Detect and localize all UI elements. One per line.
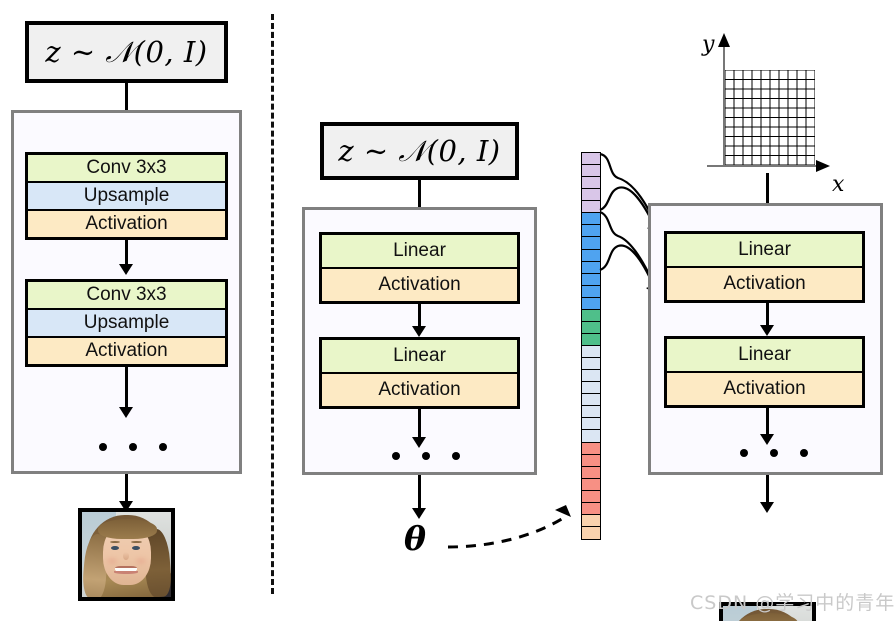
param-cell-31 [582, 527, 600, 539]
param-cell-24 [582, 443, 600, 455]
param-cell-25 [582, 455, 600, 467]
param-cell-18 [582, 370, 600, 382]
middle-ellipsis [392, 452, 460, 460]
right-arrow-b2-dots-head [760, 434, 774, 445]
axis-y-arrowhead [716, 33, 732, 49]
left-ellipsis [99, 443, 167, 451]
middle-block-2: Linear Activation [319, 337, 520, 409]
panel-divider [271, 14, 274, 594]
left-arrow-b1-b2-head [119, 264, 133, 275]
axis-x-label: x [832, 172, 844, 197]
middle-block-2-row-1: Linear [322, 340, 517, 374]
middle-block-1-row-2: Activation [322, 269, 517, 301]
param-cell-26 [582, 467, 600, 479]
right-block-2-row-2: Activation [667, 373, 862, 405]
axis-x-line [707, 165, 817, 167]
param-cell-20 [582, 394, 600, 406]
param-cell-28 [582, 491, 600, 503]
right-block-2: Linear Activation [664, 336, 865, 408]
middle-arrow-net-to-theta-line [418, 475, 421, 511]
right-block-2-row-1: Linear [667, 339, 862, 373]
middle-arrow-net-to-theta-head [412, 508, 426, 519]
right-block-1: Linear Activation [664, 231, 865, 303]
left-arrow-b2-dots-line [125, 367, 128, 409]
left-block-1-row-2: Upsample [28, 183, 225, 211]
middle-latent-label: z ∼ 𝒩(0, I) [338, 134, 500, 169]
left-block-1-row-3: Activation [28, 211, 225, 237]
theta-to-param-arrow [440, 495, 590, 565]
middle-latent-box: z ∼ 𝒩(0, I) [320, 122, 519, 180]
middle-arrow-b1-b2-line [418, 304, 421, 328]
left-latent-box: z ∼ 𝒩(0, I) [25, 21, 228, 83]
right-arrow-b1-b2-line [766, 303, 769, 327]
right-arrow-b2-dots-line [766, 408, 769, 436]
middle-block-2-row-2: Activation [322, 374, 517, 406]
param-cell-22 [582, 418, 600, 430]
middle-block-1-row-1: Linear [322, 235, 517, 269]
axis-y-label: y [702, 32, 714, 57]
param-cell-19 [582, 382, 600, 394]
left-arrow-b2-dots-head [119, 407, 133, 418]
csdn-watermark: CSDN @学习中的青年 [690, 588, 895, 615]
axis-x-arrowhead [814, 158, 830, 174]
middle-arrow-b2-dots-head [412, 437, 426, 448]
left-block-2-row-2: Upsample [28, 310, 225, 338]
left-arrow-b1-b2-line [125, 240, 128, 266]
left-block-2-row-1: Conv 3x3 [28, 282, 225, 310]
right-arrow-net-to-photo-line [766, 475, 769, 505]
middle-arrow-b1-b2-head [412, 326, 426, 337]
right-ellipsis [740, 449, 808, 457]
right-arrow-b1-b2-head [760, 325, 774, 336]
param-cell-29 [582, 503, 600, 515]
coordinate-grid [725, 70, 815, 165]
param-cell-23 [582, 430, 600, 442]
right-block-1-row-2: Activation [667, 268, 862, 300]
param-cell-21 [582, 406, 600, 418]
right-block-1-row-1: Linear [667, 234, 862, 268]
param-cell-17 [582, 358, 600, 370]
param-cell-27 [582, 479, 600, 491]
left-block-1-row-1: Conv 3x3 [28, 155, 225, 183]
left-block-1: Conv 3x3 Upsample Activation [25, 152, 228, 240]
left-block-2: Conv 3x3 Upsample Activation [25, 279, 228, 367]
right-arrow-net-to-photo-head [760, 502, 774, 513]
middle-block-1: Linear Activation [319, 232, 520, 304]
left-arrow-net-to-photo-line [125, 474, 128, 504]
middle-arrow-b2-dots-line [418, 409, 421, 439]
left-output-face-image [78, 508, 175, 601]
param-cell-30 [582, 515, 600, 527]
left-block-2-row-3: Activation [28, 338, 225, 364]
theta-label: θ [404, 519, 426, 558]
figure-canvas: z ∼ 𝒩(0, I) Conv 3x3 Upsample Activation… [0, 0, 896, 621]
left-latent-label: z ∼ 𝒩(0, I) [45, 35, 207, 70]
